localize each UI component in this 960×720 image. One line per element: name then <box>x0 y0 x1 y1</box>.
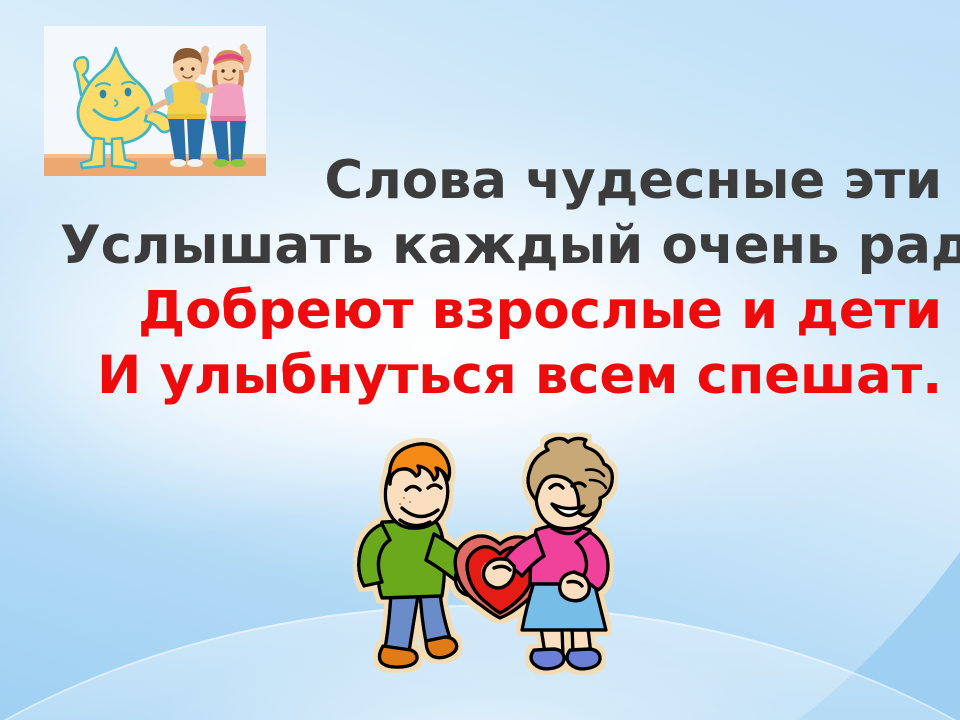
poem-text-block: Слова чудесные эти Услышать каждый очень… <box>60 148 942 408</box>
presentation-slide: Слова чудесные эти Услышать каждый очень… <box>0 0 960 720</box>
illustration-children-sharing-heart <box>336 422 666 700</box>
poem-line-4: И улыбнуться всем спешат. <box>60 343 942 408</box>
children-heart-illustration <box>336 422 666 700</box>
poem-line-3: Добреют взрослые и дети <box>60 278 942 343</box>
poem-line-1: Слова чудесные эти <box>60 148 942 213</box>
poem-line-2: Услышать каждый очень рад; <box>60 213 942 278</box>
